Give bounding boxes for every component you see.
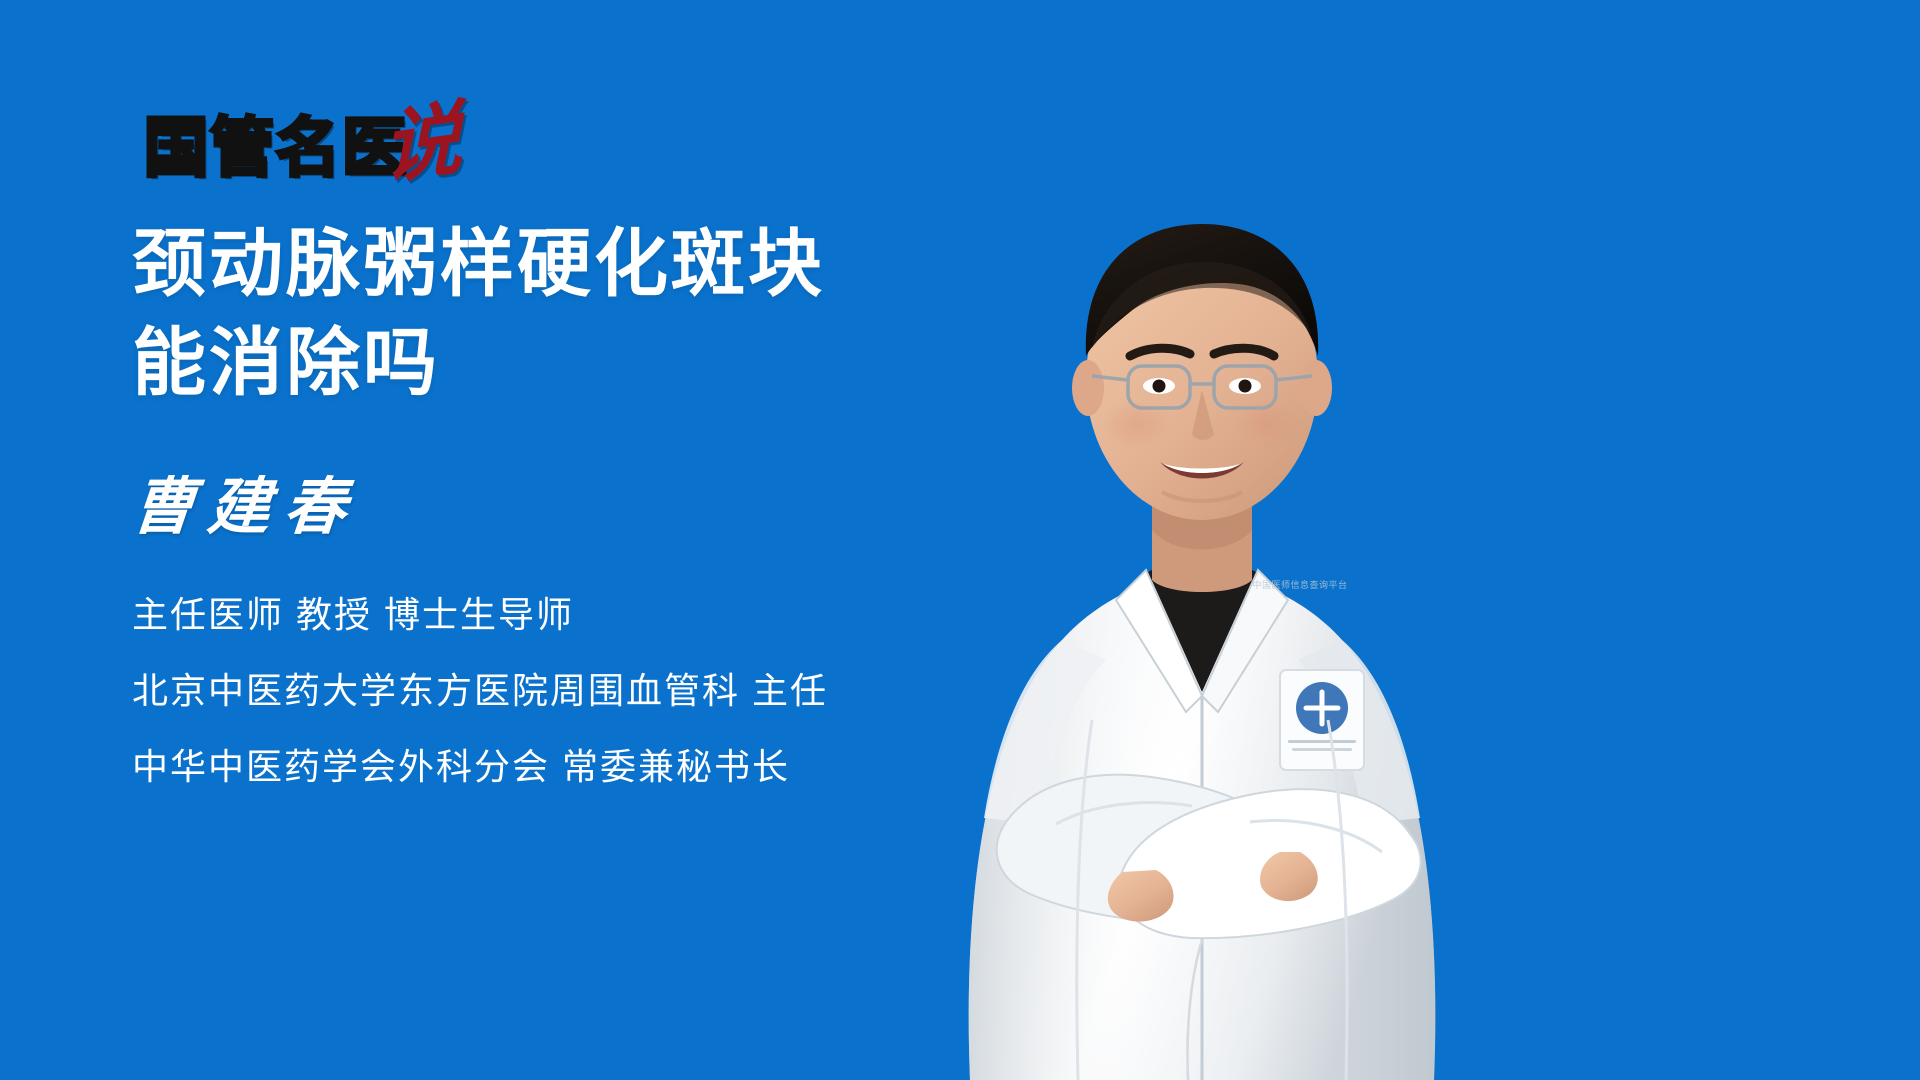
credential-line-hospital: 北京中医药大学东方医院周围血管科 主任 (132, 673, 1132, 709)
text-column: 国管名医 说 颈动脉粥样硬化斑块 能消除吗 曹建春 主任医师 教授 博士生导师 … (132, 92, 1132, 785)
credential-line-association: 中华中医药学会外科分会 常委兼秘书长 (132, 749, 1132, 785)
program-logo-main-text: 国管名医 (132, 116, 408, 180)
hand-left (1108, 870, 1174, 922)
pupil-left (1153, 380, 1166, 393)
page-title: 颈动脉粥样硬化斑块 能消除吗 (132, 214, 1132, 412)
program-logo: 国管名医 说 (132, 92, 1132, 180)
page-title-line-1: 颈动脉粥样硬化斑块 (132, 214, 1132, 313)
poster-canvas: 国管名医 说 颈动脉粥样硬化斑块 能消除吗 曹建春 主任医师 教授 博士生导师 … (0, 0, 1920, 1080)
page-title-line-2: 能消除吗 (132, 313, 1132, 412)
cheek-right (1234, 400, 1302, 448)
credential-line-titles: 主任医师 教授 博士生导师 (132, 597, 1132, 633)
program-logo-accent-text: 说 (381, 105, 463, 185)
pupil-right (1239, 380, 1252, 393)
coat-badge (1280, 670, 1364, 770)
doctor-credentials: 主任医师 教授 博士生导师 北京中医药大学东方医院周围血管科 主任 中华中医药学… (132, 597, 1132, 785)
ear-right (1300, 360, 1332, 416)
doctor-name: 曹建春 (129, 476, 1135, 541)
